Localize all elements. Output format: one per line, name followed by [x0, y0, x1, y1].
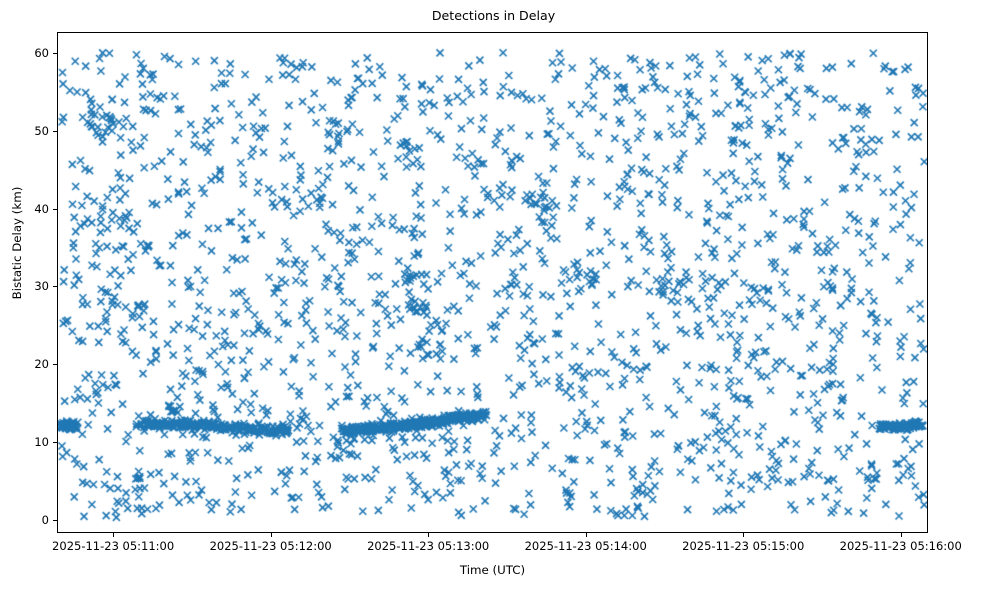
y-tick-mark [53, 131, 57, 132]
y-tick-label: 0 [3, 513, 49, 527]
x-tick-label: 2025-11-23 05:15:00 [682, 539, 804, 553]
plot-area[interactable] [57, 32, 928, 533]
y-tick-mark [53, 442, 57, 443]
x-tick-mark [428, 533, 429, 537]
y-axis-label: Bistatic Delay (km) [10, 113, 24, 373]
y-tick-mark [53, 520, 57, 521]
chart-title: Detections in Delay [0, 8, 987, 23]
y-tick-label: 60 [3, 46, 49, 60]
x-tick-mark [586, 533, 587, 537]
x-tick-label: 2025-11-23 05:11:00 [52, 539, 174, 553]
y-tick-mark [53, 286, 57, 287]
y-axis-tick-labels: 0102030405060 [0, 0, 49, 590]
y-tick-mark [53, 53, 57, 54]
y-tick-mark [53, 209, 57, 210]
chart-figure: Detections in Delay 0102030405060 2025-1… [0, 0, 987, 590]
x-axis-label: Time (UTC) [57, 563, 928, 577]
x-tick-mark [743, 533, 744, 537]
x-tick-label: 2025-11-23 05:12:00 [210, 539, 332, 553]
x-tick-label: 2025-11-23 05:16:00 [840, 539, 962, 553]
y-tick-mark [53, 364, 57, 365]
scatter-plot-canvas [58, 33, 927, 532]
x-tick-mark [901, 533, 902, 537]
x-tick-mark [113, 533, 114, 537]
x-tick-label: 2025-11-23 05:14:00 [525, 539, 647, 553]
y-tick-label: 10 [3, 435, 49, 449]
x-tick-mark [271, 533, 272, 537]
x-tick-label: 2025-11-23 05:13:00 [367, 539, 489, 553]
